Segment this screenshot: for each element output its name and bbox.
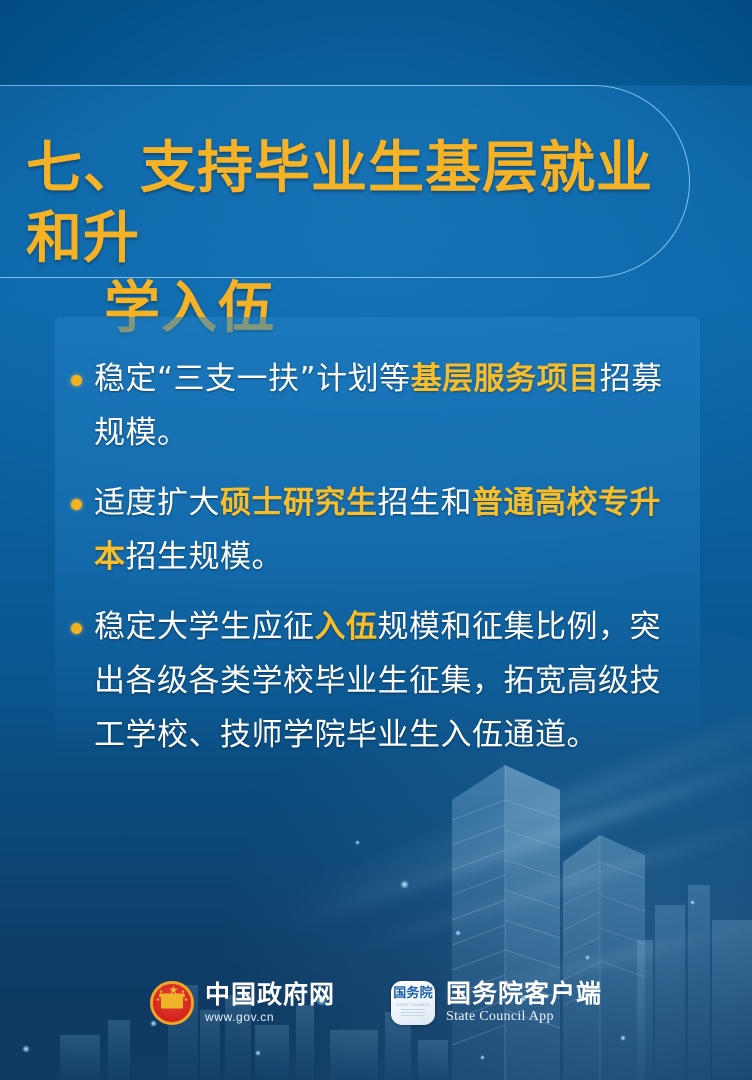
background-vignette xyxy=(0,0,752,1080)
infographic-poster: 七、支持毕业生基层就业和升 学入伍 稳定“三支一扶”计划等基层服务项目招募规模。… xyxy=(0,0,752,1080)
